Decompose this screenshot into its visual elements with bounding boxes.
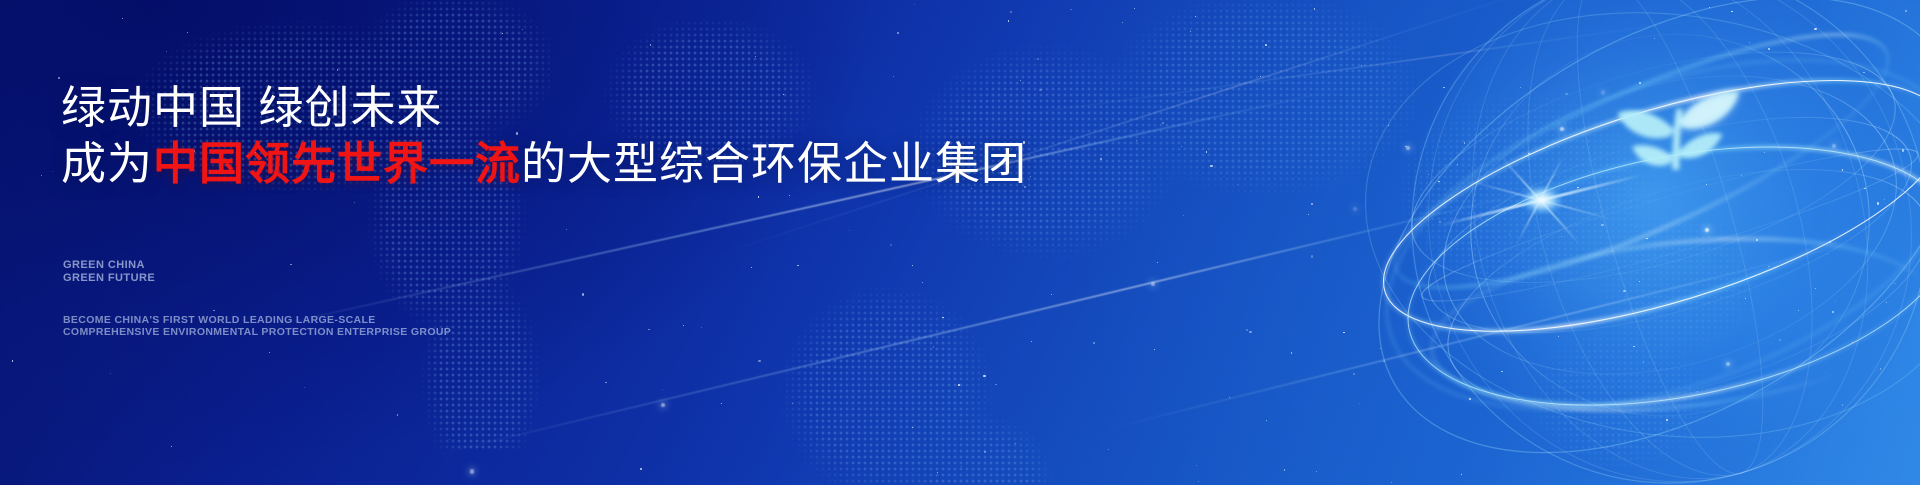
particle-dot <box>1383 361 1384 362</box>
particle-dot <box>1528 153 1529 154</box>
globe-icon <box>1340 0 1920 485</box>
particle-dot <box>1709 7 1710 8</box>
banner-copy: 绿动中国 绿创未来 成为中国领先世界一流的大型综合环保企业集团 GREEN CH… <box>61 0 1061 485</box>
subcopy-line-1: BECOME CHINA'S FIRST WORLD LEADING LARGE… <box>63 314 451 326</box>
particle-dot <box>1428 174 1429 175</box>
tagline-line-1: GREEN CHINA <box>63 259 155 272</box>
particle-dot <box>1612 251 1613 252</box>
particle-dot <box>1825 372 1826 373</box>
particle-dot <box>1343 332 1344 333</box>
particle-dot <box>1798 310 1799 311</box>
particle-dot <box>1122 22 1123 23</box>
particle-dot <box>1196 465 1197 466</box>
particle-dot <box>1635 226 1636 227</box>
particle-dot <box>1699 292 1700 293</box>
particle-dot <box>1764 152 1765 153</box>
particle-dot <box>1154 349 1155 350</box>
particle-dot <box>1864 188 1865 189</box>
particle-dot <box>1902 149 1904 151</box>
particle-dot <box>1421 278 1422 279</box>
particle-dot <box>1265 44 1267 46</box>
particle-dot <box>1814 28 1816 30</box>
particle-dot <box>1731 11 1732 12</box>
tagline-line-2: GREEN FUTURE <box>63 272 155 285</box>
light-streak <box>980 14 1733 121</box>
particle-dot <box>1768 48 1770 50</box>
particle-dot <box>1249 331 1251 333</box>
particle-dot <box>1136 140 1137 141</box>
particle-dot <box>1157 262 1158 263</box>
particle-dot <box>1877 202 1879 204</box>
particle-dot <box>1601 90 1605 94</box>
particle-dot <box>1886 302 1887 303</box>
headline-line-2-prefix: 成为 <box>61 138 153 189</box>
particle-dot <box>1405 146 1406 147</box>
particle-dot <box>1646 238 1647 239</box>
particle-dot <box>1246 329 1248 331</box>
particle-dot <box>1827 254 1828 255</box>
particle-dot <box>1353 373 1355 375</box>
particle-dot <box>1842 169 1843 170</box>
particle-dot <box>1852 342 1853 343</box>
particle-dot <box>1905 10 1907 12</box>
particle-dot <box>1835 301 1836 302</box>
particle-dot <box>1894 283 1895 284</box>
particle-dot <box>1666 419 1667 420</box>
particle-dot <box>1863 72 1864 73</box>
star-burst-core <box>1522 186 1562 214</box>
particle-dot <box>1353 207 1357 211</box>
particle-dot <box>1705 228 1709 232</box>
particle-dot <box>1832 311 1833 312</box>
particle-dot <box>1509 234 1510 235</box>
particle-dot <box>1438 181 1439 182</box>
particle-dot <box>1314 8 1315 9</box>
particle-dot <box>1697 391 1698 392</box>
particle-dot <box>1756 239 1758 241</box>
globe-wireframe <box>1340 0 1920 485</box>
particle-dot <box>1565 93 1567 95</box>
particle-dot <box>1639 281 1640 282</box>
particle-dot <box>1183 215 1184 216</box>
particle-dot <box>1749 42 1750 43</box>
particle-dot <box>1880 368 1881 369</box>
particle-dot <box>1726 362 1730 366</box>
subcopy-line-2: COMPREHENSIVE ENVIRONMENTAL PROTECTION E… <box>63 326 451 338</box>
particle-dot <box>1190 31 1191 32</box>
particle-dot <box>1237 184 1238 185</box>
particle-dot <box>1779 339 1780 340</box>
particle-dot <box>1195 16 1196 17</box>
headline-line-2: 成为中国领先世界一流的大型综合环保企业集团 <box>61 138 1027 190</box>
particle-dot <box>1746 13 1747 14</box>
light-streak <box>1100 232 1896 432</box>
tagline: GREEN CHINA GREEN FUTURE <box>63 259 155 284</box>
particle-dot <box>1520 87 1521 88</box>
particle-dot <box>52 171 53 172</box>
particle-dot <box>1291 352 1292 353</box>
sprout-icon <box>1618 92 1740 170</box>
particle-dot <box>1639 82 1641 84</box>
particle-dot <box>1561 236 1562 237</box>
particle-dot <box>1308 214 1309 215</box>
subcopy: BECOME CHINA'S FIRST WORLD LEADING LARGE… <box>63 314 451 338</box>
headline-line-2-highlight: 中国领先世界一流 <box>153 138 521 189</box>
particle-dot <box>1266 420 1267 421</box>
particle-dot <box>1070 9 1071 10</box>
particle-dot <box>1633 346 1634 347</box>
particle-dot <box>1311 255 1313 257</box>
particle-dot <box>1134 8 1135 9</box>
particle-dot <box>1391 482 1392 483</box>
particle-dot <box>1457 164 1458 165</box>
particle-dot <box>1879 126 1880 127</box>
particle-dot <box>1745 298 1746 299</box>
particle-dot <box>1706 184 1707 185</box>
particle-dot <box>1388 125 1389 126</box>
particle-dot <box>1501 371 1502 372</box>
particle-dot <box>41 175 42 176</box>
particle-dot <box>1829 241 1831 243</box>
particle-dot <box>1558 336 1559 337</box>
particle-dot <box>1162 122 1164 124</box>
particle-dot <box>1815 288 1816 289</box>
particle-dot <box>1842 404 1843 405</box>
particle-dot <box>1461 474 1462 475</box>
particle-dot <box>1359 403 1360 404</box>
particle-dot <box>1108 449 1109 450</box>
headline-line-1: 绿动中国 绿创未来 <box>61 82 443 133</box>
particle-dot <box>1741 175 1742 176</box>
particle-dot <box>1311 203 1313 205</box>
particle-dot <box>1560 127 1564 131</box>
particle-dot <box>1093 342 1095 344</box>
particle-dot <box>1316 471 1317 472</box>
particle-dot <box>1832 144 1836 148</box>
particle-dot <box>12 360 13 361</box>
particle-dot <box>1768 266 1769 267</box>
particle-dot <box>1100 158 1102 160</box>
particle-dot <box>1443 87 1444 88</box>
particle-dot <box>1206 151 1207 152</box>
particle-dot <box>1689 388 1690 389</box>
particle-dot <box>1464 142 1465 143</box>
particle-dot <box>1601 224 1603 226</box>
particle-dot <box>1181 146 1182 147</box>
particle-dot <box>1469 398 1471 400</box>
particle-dot <box>1884 199 1885 200</box>
headline: 绿动中国 绿创未来 成为中国领先世界一流的大型综合环保企业集团 <box>61 82 1027 190</box>
globe-glow <box>1410 0 1920 485</box>
particle-dot <box>1406 146 1410 150</box>
particle-dot <box>1654 38 1655 39</box>
headline-line-2-suffix: 的大型综合环保企业集团 <box>521 138 1027 189</box>
particle-dot <box>1198 481 1199 482</box>
hero-banner: 绿动中国 绿创未来 成为中国领先世界一流的大型综合环保企业集团 GREEN CH… <box>0 0 1920 485</box>
particle-dot <box>1623 290 1625 292</box>
particle-dot <box>1380 348 1381 349</box>
particle-dot <box>1210 165 1212 167</box>
particle-dot <box>1896 137 1897 138</box>
particle-dot <box>1284 469 1285 470</box>
particle-dot <box>1643 361 1644 362</box>
